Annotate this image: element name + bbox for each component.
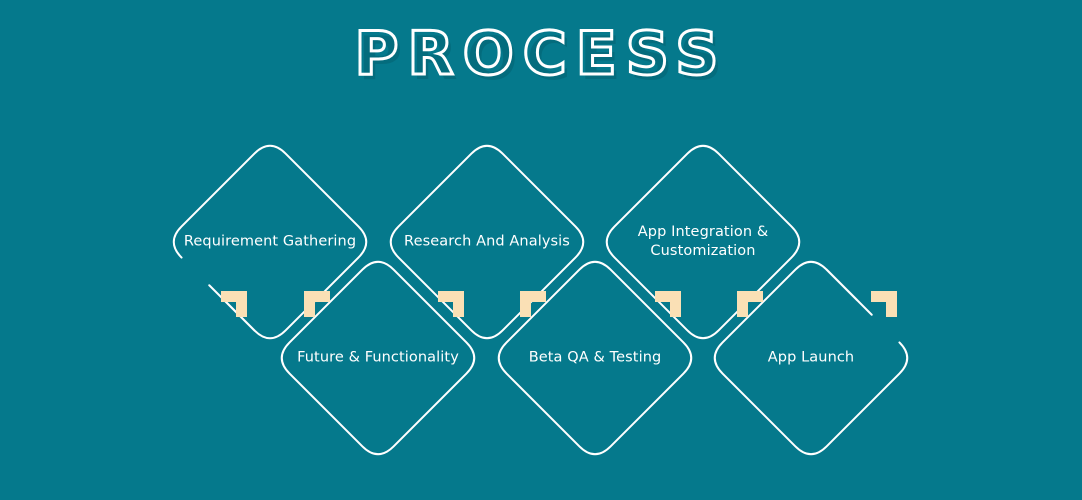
process-infographic: PROCESS Requirement GatheringFuture & Fu… <box>0 0 1082 500</box>
corner-accent-accent-7 <box>871 291 897 317</box>
corner-accent-accent-4 <box>520 291 546 317</box>
corner-accent-accent-1 <box>221 291 247 317</box>
corner-accent-accent-6 <box>737 291 763 317</box>
corner-accent-layer <box>0 0 1082 500</box>
corner-accent-accent-3 <box>438 291 464 317</box>
corner-accent-accent-2 <box>304 291 330 317</box>
corner-accent-accent-5 <box>655 291 681 317</box>
